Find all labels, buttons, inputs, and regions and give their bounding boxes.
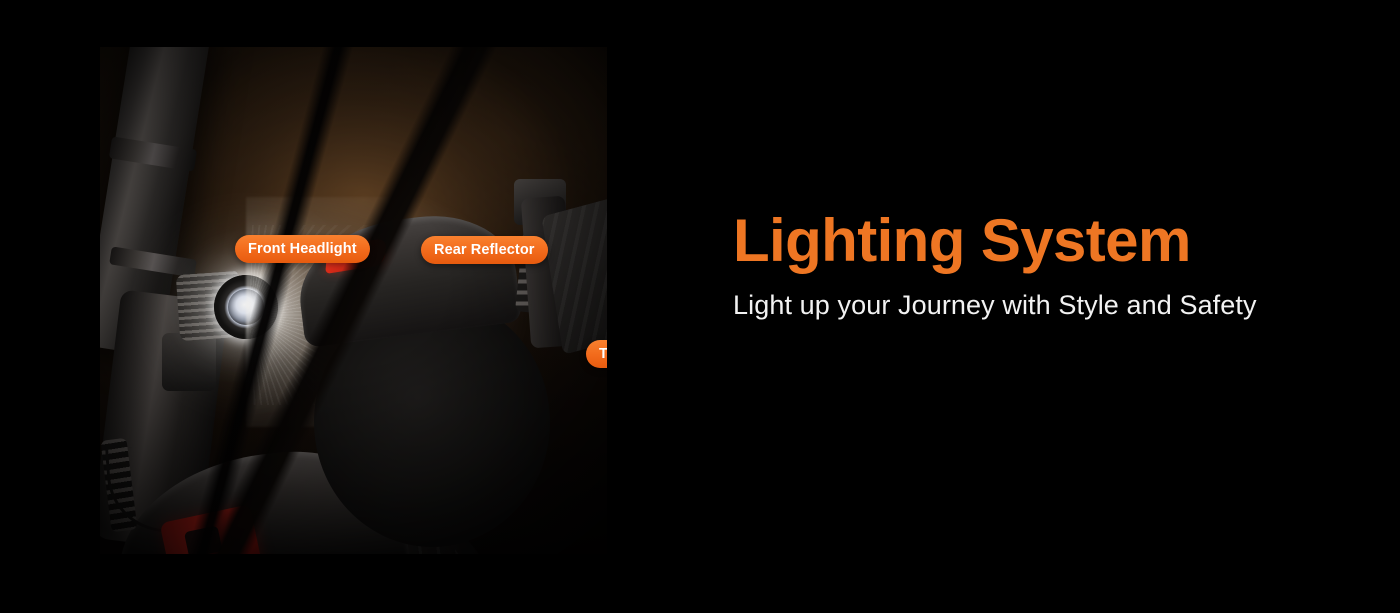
callout-rear-reflector-label: Rear Reflector xyxy=(434,242,535,258)
copy-block: Lighting System Light up your Journey wi… xyxy=(733,211,1333,321)
callout-turn-signals-label: Turn Signals xyxy=(599,346,607,362)
page-title: Lighting System xyxy=(733,211,1333,271)
page-subtitle: Light up your Journey with Style and Saf… xyxy=(733,289,1333,321)
lighting-system-banner: Front Headlight Rear Reflector Turn Sign… xyxy=(0,0,1400,613)
callout-rear-reflector: Rear Reflector xyxy=(421,236,548,264)
callout-front-headlight: Front Headlight xyxy=(235,235,370,263)
photo-right-half xyxy=(288,47,607,554)
headlight-led-core xyxy=(228,289,264,325)
callout-front-headlight-label: Front Headlight xyxy=(248,241,357,257)
headlight-mount-bracket xyxy=(162,333,216,391)
product-photo: Front Headlight Rear Reflector Turn Sign… xyxy=(100,47,607,554)
callout-turn-signals: Turn Signals xyxy=(586,340,607,368)
